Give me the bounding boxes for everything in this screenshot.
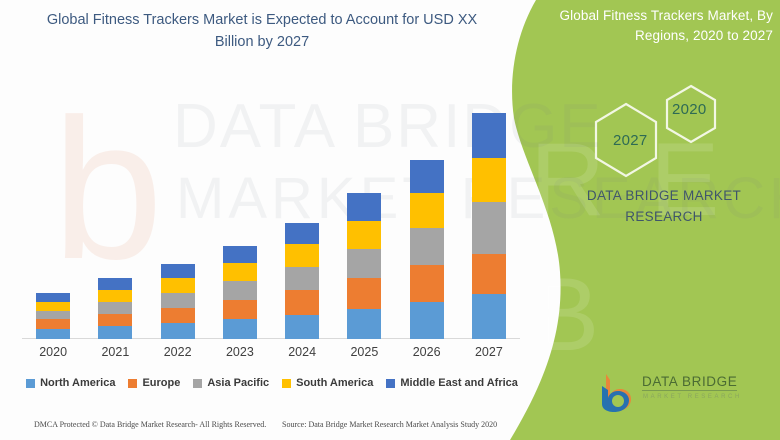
bar-segment: [98, 314, 132, 327]
bar-segment: [410, 228, 444, 264]
hexagon-group: 2027 2020: [580, 80, 780, 180]
legend-item[interactable]: North America: [26, 377, 115, 389]
bar-segment: [36, 302, 70, 311]
bar-segment: [161, 278, 195, 293]
bar-segment: [223, 319, 257, 339]
bar-segment: [285, 223, 319, 245]
x-axis-label-2025: 2025: [334, 345, 394, 359]
bar-segment: [472, 113, 506, 158]
x-axis-label-2021: 2021: [85, 345, 145, 359]
x-axis-label-2026: 2026: [397, 345, 457, 359]
bar-segment: [161, 308, 195, 324]
logo-mark-icon: [598, 372, 642, 412]
panel-title: Global Fitness Trackers Market, By Regio…: [545, 6, 773, 45]
bar-segment: [36, 319, 70, 329]
bar-segment: [285, 244, 319, 267]
bar-segment: [98, 326, 132, 339]
bar-segment: [410, 302, 444, 339]
bar-segment: [223, 246, 257, 263]
legend-item[interactable]: Middle East and Africa: [386, 377, 518, 389]
hexagon-2020-label: 2020: [672, 101, 707, 118]
legend-swatch-icon: [386, 379, 395, 388]
chart-legend: North AmericaEuropeAsia PacificSouth Ame…: [22, 373, 522, 393]
bar-segment: [347, 249, 381, 278]
bar-segment: [472, 158, 506, 202]
bar-segment: [472, 202, 506, 254]
infographic-canvas: R E B Global Fitness Trackers Market, By…: [0, 0, 780, 440]
bar-2023[interactable]: [223, 246, 257, 339]
x-axis-label-2022: 2022: [148, 345, 208, 359]
svg-text:B: B: [530, 257, 599, 373]
bar-segment: [223, 281, 257, 300]
bar-segment: [98, 290, 132, 302]
bar-2022[interactable]: [161, 264, 195, 339]
bar-segment: [472, 254, 506, 294]
bar-segment: [223, 300, 257, 320]
bar-2020[interactable]: [36, 293, 70, 339]
legend-item[interactable]: South America: [282, 377, 373, 389]
logo-name: DATA BRIDGE: [642, 374, 737, 391]
bar-segment: [347, 309, 381, 339]
legend-swatch-icon: [193, 379, 202, 388]
hexagon-2027-label: 2027: [613, 132, 648, 149]
footer-source: Source: Data Bridge Market Research Mark…: [282, 420, 497, 429]
bar-segment: [36, 329, 70, 339]
legend-swatch-icon: [26, 379, 35, 388]
legend-item[interactable]: Asia Pacific: [193, 377, 269, 389]
legend-swatch-icon: [128, 379, 137, 388]
bar-segment: [410, 265, 444, 302]
bar-2026[interactable]: [410, 160, 444, 339]
bar-segment: [285, 315, 319, 339]
bar-segment: [161, 264, 195, 279]
bar-2027[interactable]: [472, 113, 506, 339]
bar-segment: [410, 160, 444, 193]
legend-swatch-icon: [282, 379, 291, 388]
x-axis-labels: 20202021202220232024202520262027: [22, 345, 520, 365]
bar-segment: [98, 278, 132, 290]
bar-segment: [285, 290, 319, 314]
legend-item[interactable]: Europe: [128, 377, 180, 389]
bar-segment: [161, 323, 195, 339]
bar-segment: [472, 294, 506, 339]
x-axis-label-2024: 2024: [272, 345, 332, 359]
bar-2025[interactable]: [347, 193, 381, 339]
bar-segment: [410, 193, 444, 228]
legend-label: Europe: [142, 377, 180, 389]
x-axis-label-2023: 2023: [210, 345, 270, 359]
legend-label: Asia Pacific: [207, 377, 269, 389]
bar-segment: [285, 267, 319, 290]
logo-tagline: MARKET RESEARCH: [643, 394, 742, 400]
bar-segment: [36, 311, 70, 320]
bar-segment: [347, 221, 381, 249]
x-axis-label-2027: 2027: [459, 345, 519, 359]
bar-segment: [161, 293, 195, 308]
legend-label: North America: [40, 377, 115, 389]
panel-brand-text: DATA BRIDGE MARKET RESEARCH: [556, 186, 772, 228]
bar-segment: [347, 278, 381, 308]
bar-2024[interactable]: [285, 223, 319, 339]
legend-label: South America: [296, 377, 373, 389]
data-bridge-logo: DATA BRIDGE MARKET RESEARCH: [598, 372, 774, 414]
bar-segment: [223, 263, 257, 282]
bar-segment: [347, 193, 381, 220]
chart-plot-area: [22, 60, 520, 339]
stacked-bar-chart: 20202021202220232024202520262027: [0, 0, 540, 400]
bar-segment: [98, 302, 132, 314]
x-axis-label-2020: 2020: [23, 345, 83, 359]
footer-copyright: DMCA Protected © Data Bridge Market Rese…: [34, 420, 266, 429]
bar-segment: [36, 293, 70, 302]
bar-2021[interactable]: [98, 278, 132, 339]
legend-label: Middle East and Africa: [400, 377, 518, 389]
